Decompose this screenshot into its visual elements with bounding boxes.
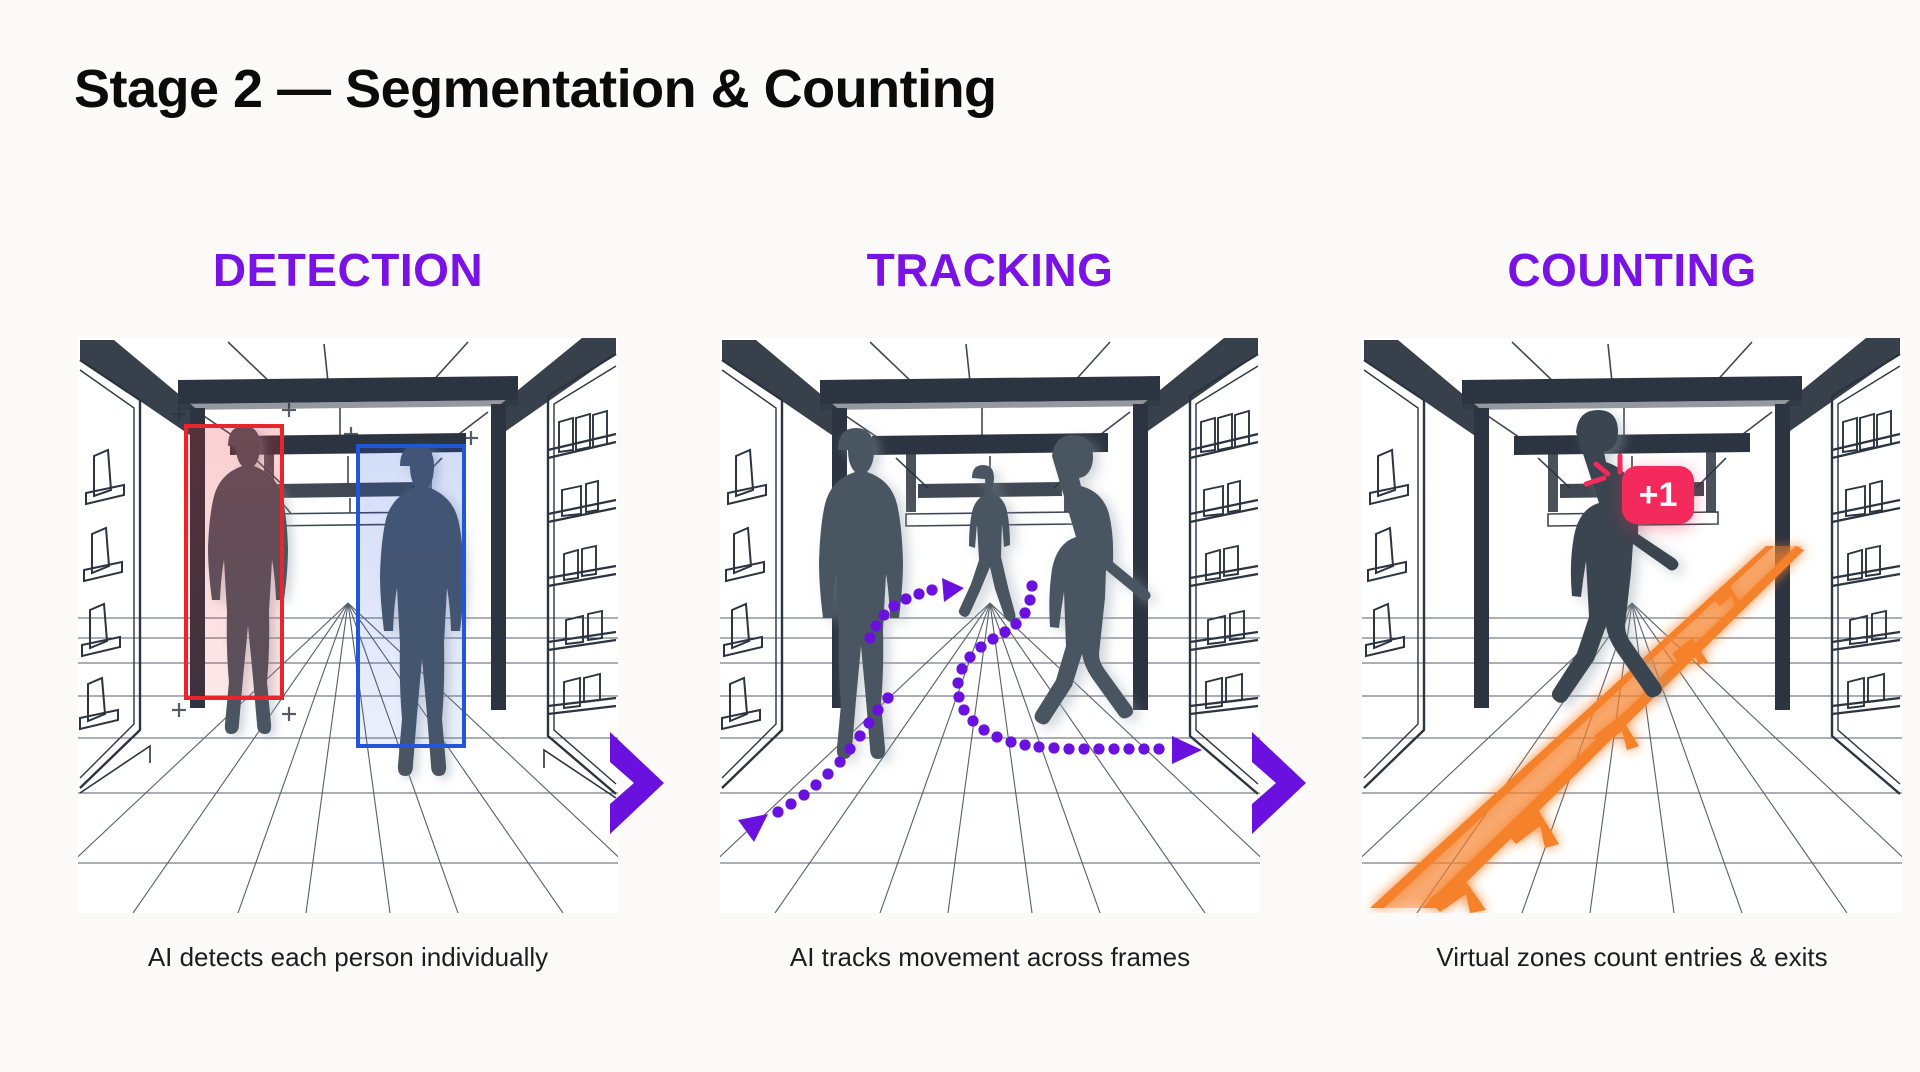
stage-detection: DETECTION xyxy=(68,230,628,1020)
stage-caption-counting: Virtual zones count entries & exits xyxy=(1352,942,1912,973)
stage-caption-tracking: AI tracks movement across frames xyxy=(710,942,1270,973)
scene-detection xyxy=(78,338,618,913)
scene-counting xyxy=(1362,338,1902,913)
stage-heading-counting: COUNTING xyxy=(1352,230,1912,320)
page-title: Stage 2 — Segmentation & Counting xyxy=(74,58,997,120)
arrow-separator-1 xyxy=(600,728,680,838)
bbox-person-1 xyxy=(172,403,296,721)
arrow-separator-2 xyxy=(1242,728,1322,838)
scene-tracking xyxy=(720,338,1260,913)
spark-icon xyxy=(1586,456,1620,484)
bbox-person-2 xyxy=(344,427,478,746)
stage-counting: COUNTING xyxy=(1352,230,1912,1020)
stage-caption-detection: AI detects each person individually xyxy=(68,942,628,973)
chevron-right-icon xyxy=(1252,732,1306,834)
chevron-right-icon xyxy=(610,732,664,834)
stage-tracking: TRACKING xyxy=(710,230,1270,1020)
stage-heading-tracking: TRACKING xyxy=(710,230,1270,320)
count-badge: +1 xyxy=(1622,466,1694,524)
stages-row: DETECTION xyxy=(0,230,1920,1020)
stage-heading-detection: DETECTION xyxy=(68,230,628,320)
